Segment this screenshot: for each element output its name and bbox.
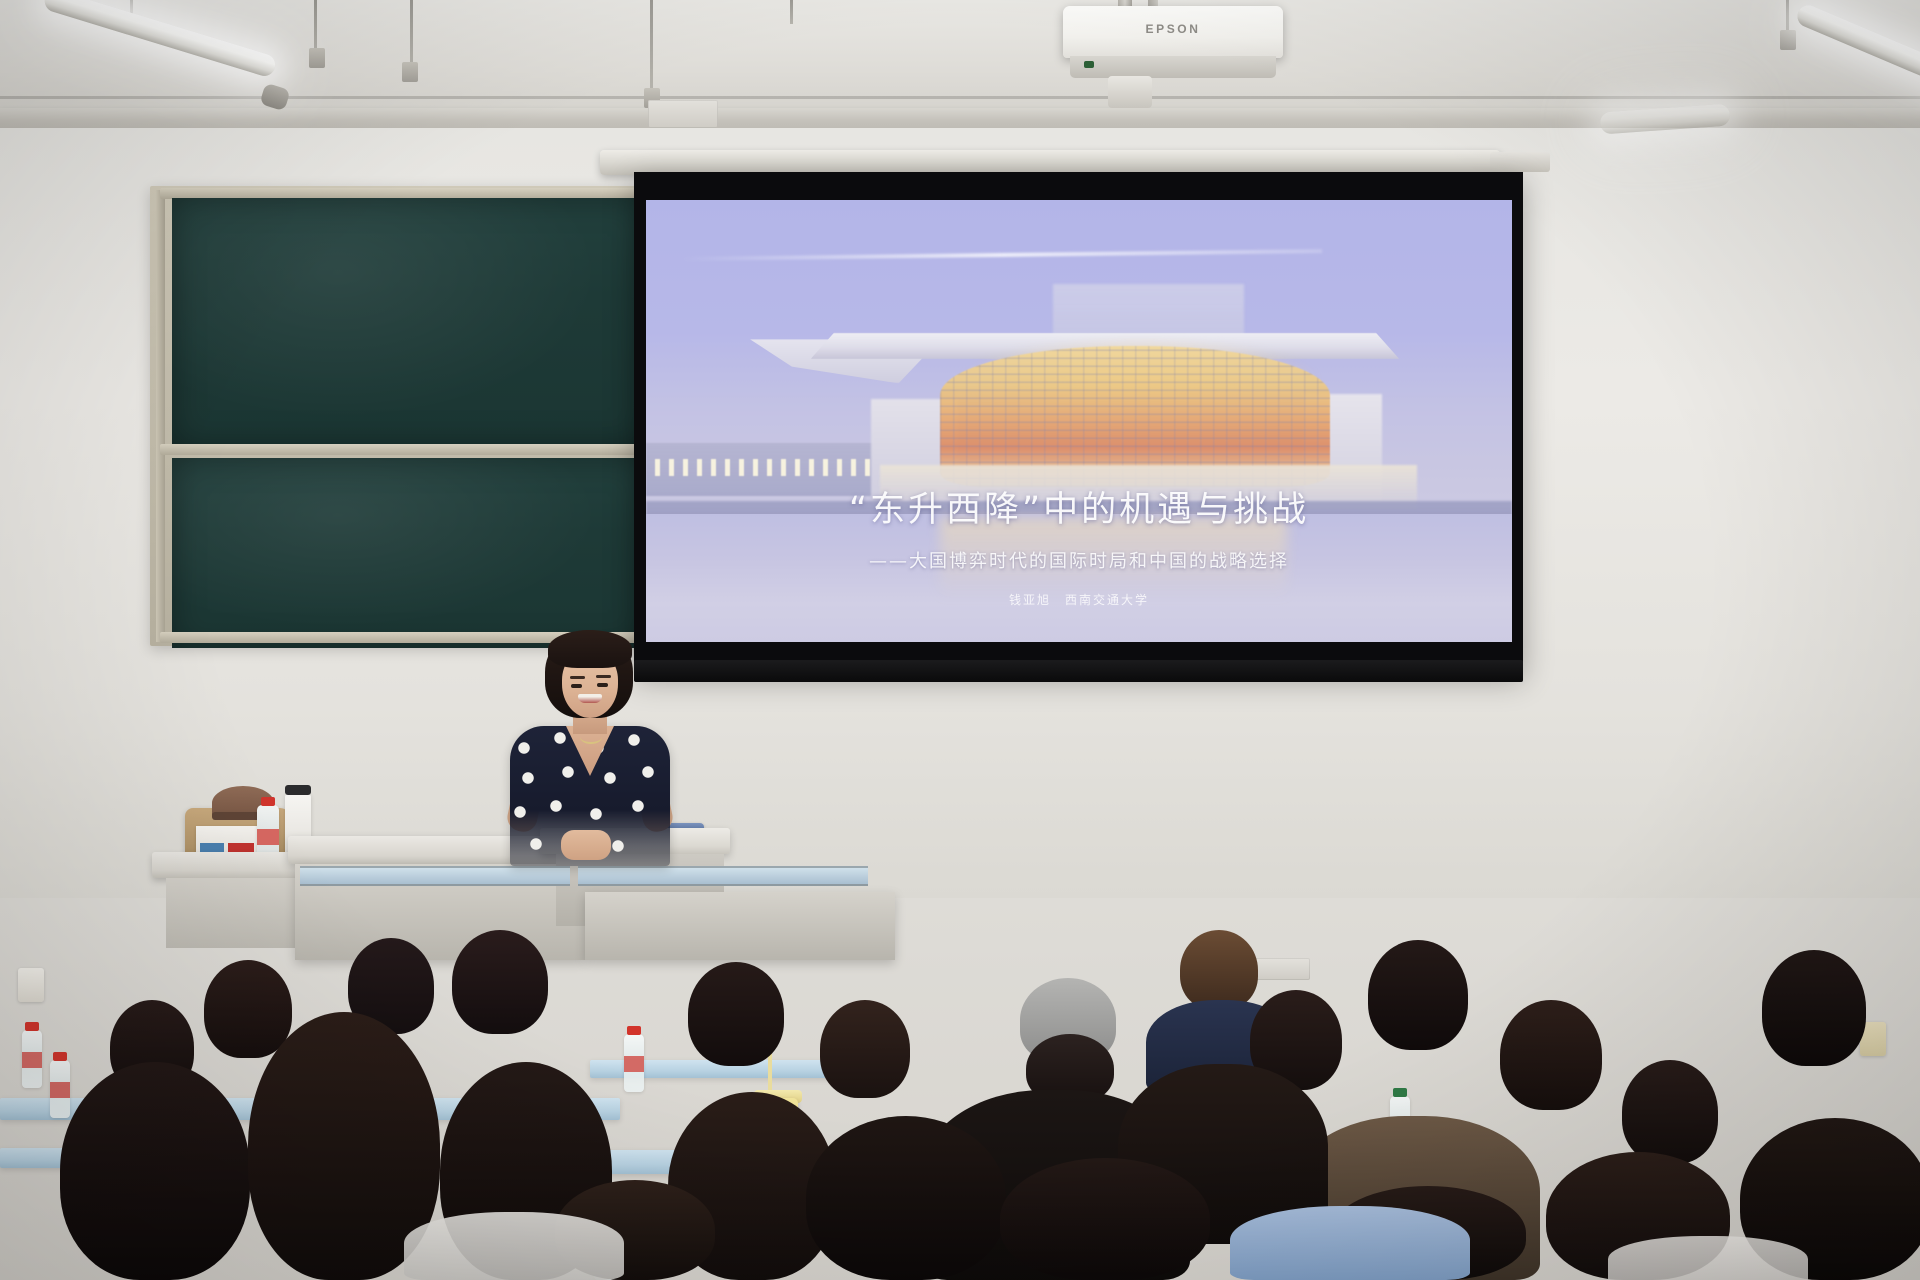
student-head-front <box>1000 1158 1210 1280</box>
pendant-cap <box>402 62 418 82</box>
student-head <box>1500 1000 1602 1110</box>
student-head <box>1622 1060 1718 1164</box>
blackboard-panel-upper <box>172 198 646 446</box>
bottle-cap <box>1393 1088 1407 1097</box>
tissue-box-blue-stripe <box>200 843 224 852</box>
blackboard-middle-rail <box>160 444 655 455</box>
pendant-cap <box>309 48 325 68</box>
pendant-rod <box>314 0 317 52</box>
pendant-rod <box>1786 0 1789 34</box>
bottle-label <box>624 1056 644 1072</box>
bottle-label <box>50 1082 70 1098</box>
student-shoulders-front <box>1608 1236 1808 1280</box>
speaker-eye-right <box>597 683 608 687</box>
speaker-necklace <box>580 730 602 744</box>
speaker-brow-right <box>596 675 611 678</box>
slide-subtitle: ——大国博弈时代的国际时局和中国的战略选择 <box>646 547 1512 573</box>
student-head <box>1180 930 1258 1010</box>
lectern-sliding-rail <box>578 866 868 886</box>
pendant-cap <box>1780 30 1796 50</box>
slide-sky-contrail <box>681 249 1322 261</box>
bottle-label <box>22 1052 42 1068</box>
speaker-hair-fringe <box>548 630 632 668</box>
student-head <box>204 960 292 1058</box>
wall-outlet-left[interactable] <box>18 968 44 1002</box>
bottle-label <box>257 829 279 845</box>
projection-screen-surface: “东升西降”中的机遇与挑战 ——大国博弈时代的国际时局和中国的战略选择 钱亚旭 … <box>646 200 1512 642</box>
ceiling-vent-plate <box>648 100 718 128</box>
student-head-front <box>806 1116 1006 1280</box>
thermos-lid <box>285 785 311 795</box>
lecture-hall-scene: EPSON <box>0 0 1920 1280</box>
pendant-rod <box>410 0 413 66</box>
blackboard-panel-lower <box>172 458 646 648</box>
student-head <box>452 930 548 1034</box>
speaker-brow-left <box>570 676 585 679</box>
student-head-front <box>60 1062 250 1280</box>
projector-lens-housing <box>1108 76 1152 108</box>
pendant-rod <box>650 0 653 92</box>
slide-author: 钱亚旭 西南交通大学 <box>646 591 1512 608</box>
bottle-cap <box>53 1052 67 1061</box>
speaker-clasped-hands <box>561 830 611 860</box>
pendant-rod <box>790 0 793 24</box>
screen-roller-bracket <box>1490 152 1550 172</box>
projector-brand-label: EPSON <box>1063 22 1283 36</box>
student-water-bottle <box>22 1030 42 1088</box>
student-head <box>1368 940 1468 1050</box>
presentation-slide: “东升西降”中的机遇与挑战 ——大国博弈时代的国际时局和中国的战略选择 钱亚旭 … <box>646 200 1512 642</box>
student-head <box>1762 950 1866 1066</box>
speaker-eye-left <box>571 684 582 688</box>
student-water-bottle <box>624 1034 644 1092</box>
podium-extension <box>585 892 895 960</box>
blackboard-side-post <box>156 190 165 642</box>
bottle-cap <box>261 797 275 806</box>
lectern-sliding-rail <box>300 866 570 886</box>
bottle-cap <box>25 1022 39 1031</box>
projection-screen: “东升西降”中的机遇与挑战 ——大国博弈时代的国际时局和中国的战略选择 钱亚旭 … <box>634 172 1523 672</box>
blackboard <box>150 186 655 646</box>
student-water-bottle <box>50 1060 70 1118</box>
student-head <box>820 1000 910 1098</box>
projector-status-led <box>1084 61 1094 68</box>
student-shoulders-front <box>404 1212 624 1280</box>
projector-base <box>1070 56 1276 78</box>
slide-title: “东升西降”中的机遇与挑战 <box>646 481 1512 532</box>
screen-bottom-weight-bar <box>634 660 1523 682</box>
student-head <box>688 962 784 1066</box>
speaker-smile <box>578 694 602 703</box>
bottle-cap <box>627 1026 641 1035</box>
student-shoulders-front <box>1230 1206 1470 1280</box>
